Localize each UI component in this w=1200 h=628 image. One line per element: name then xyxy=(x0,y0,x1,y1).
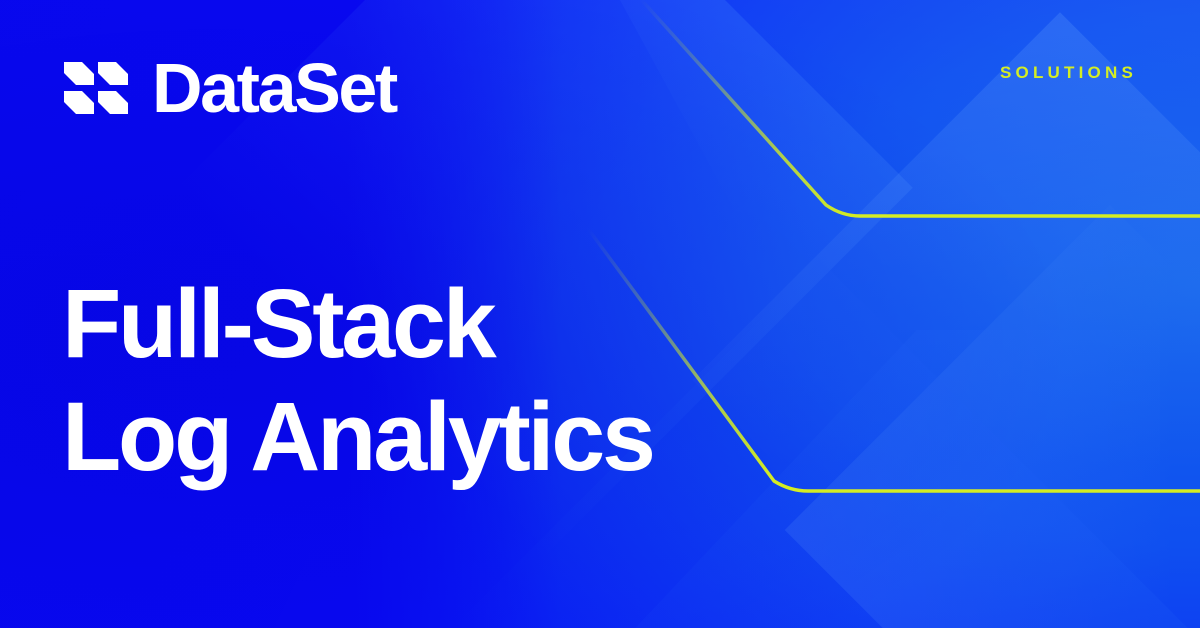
category-eyebrow-label: SOLUTIONS xyxy=(1000,64,1137,81)
accent-rail-lower-path xyxy=(586,226,1200,491)
headline: Full-Stack Log Analytics xyxy=(62,268,653,493)
dataset-logo-mark-icon xyxy=(62,54,130,122)
marketing-banner: DataSet SOLUTIONS Full-Stack Log Analyti… xyxy=(0,0,1200,628)
logo-lockup[interactable]: DataSet xyxy=(62,53,396,123)
accent-rail-upper-path xyxy=(638,0,1200,216)
brand-wordmark: DataSet xyxy=(152,53,396,123)
headline-line-2: Log Analytics xyxy=(62,381,653,494)
headline-line-1: Full-Stack xyxy=(62,268,653,381)
